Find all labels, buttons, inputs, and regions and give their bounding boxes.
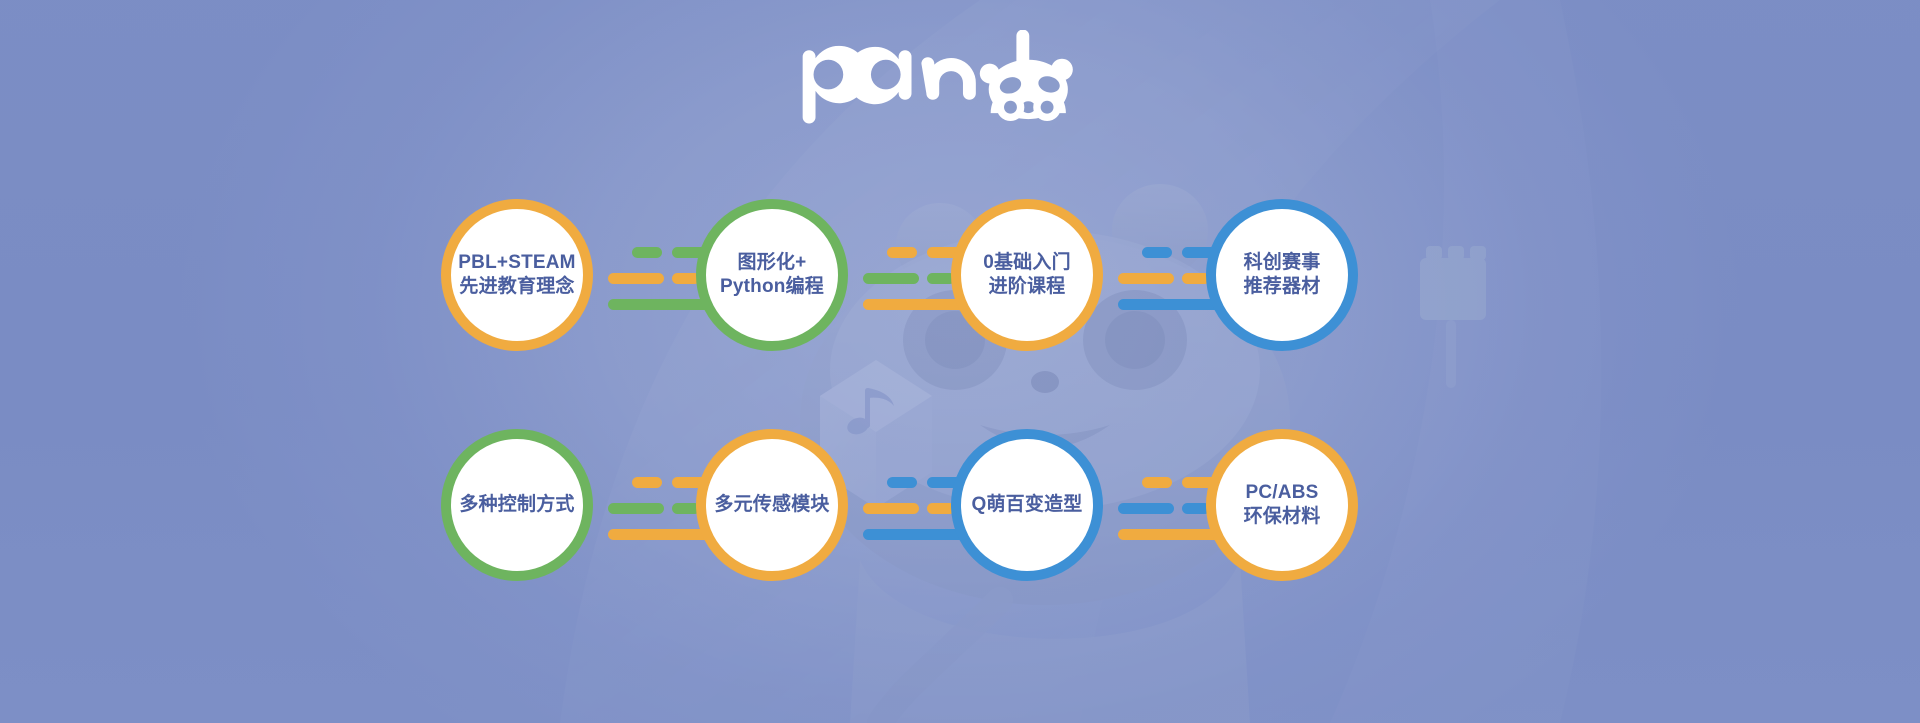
feature-node-grid: PBL+STEAM 先进教育理念 图形化+ Python编程 0基础入门 进阶课…	[0, 0, 1920, 723]
product-feature-banner: PBL+STEAM 先进教育理念 图形化+ Python编程 0基础入门 进阶课…	[0, 0, 1920, 723]
feature-node-competition-gear[interactable]: 科创赛事 推荐器材	[1206, 199, 1358, 351]
feature-node-control-modes[interactable]: 多种控制方式	[441, 429, 593, 581]
dash	[608, 503, 664, 514]
dash	[1118, 273, 1174, 284]
feature-node-label: 图形化+ Python编程	[716, 251, 828, 299]
feature-node-pc-abs-material[interactable]: PC/ABS 环保材料	[1206, 429, 1358, 581]
feature-node-pbl-steam[interactable]: PBL+STEAM 先进教育理念	[441, 199, 593, 351]
dash	[887, 477, 917, 488]
dash	[863, 503, 919, 514]
feature-node-label: Q萌百变造型	[968, 493, 1087, 517]
dash	[608, 273, 664, 284]
feature-node-graphical-python[interactable]: 图形化+ Python编程	[696, 199, 848, 351]
feature-node-zero-basis-course[interactable]: 0基础入门 进阶课程	[951, 199, 1103, 351]
dash	[887, 247, 917, 258]
feature-node-label: 多种控制方式	[455, 493, 578, 517]
feature-node-label: PC/ABS 环保材料	[1240, 481, 1325, 529]
dash	[1142, 247, 1172, 258]
dash	[863, 273, 919, 284]
feature-node-label: 0基础入门 进阶课程	[979, 251, 1075, 299]
dash	[1142, 477, 1172, 488]
feature-node-label: PBL+STEAM 先进教育理念	[454, 251, 579, 299]
feature-node-cute-shapes[interactable]: Q萌百变造型	[951, 429, 1103, 581]
dash	[632, 247, 662, 258]
feature-node-label: 科创赛事 推荐器材	[1240, 251, 1325, 299]
dash	[632, 477, 662, 488]
feature-node-sensor-modules[interactable]: 多元传感模块	[696, 429, 848, 581]
dash	[1118, 503, 1174, 514]
feature-node-label: 多元传感模块	[710, 493, 833, 517]
